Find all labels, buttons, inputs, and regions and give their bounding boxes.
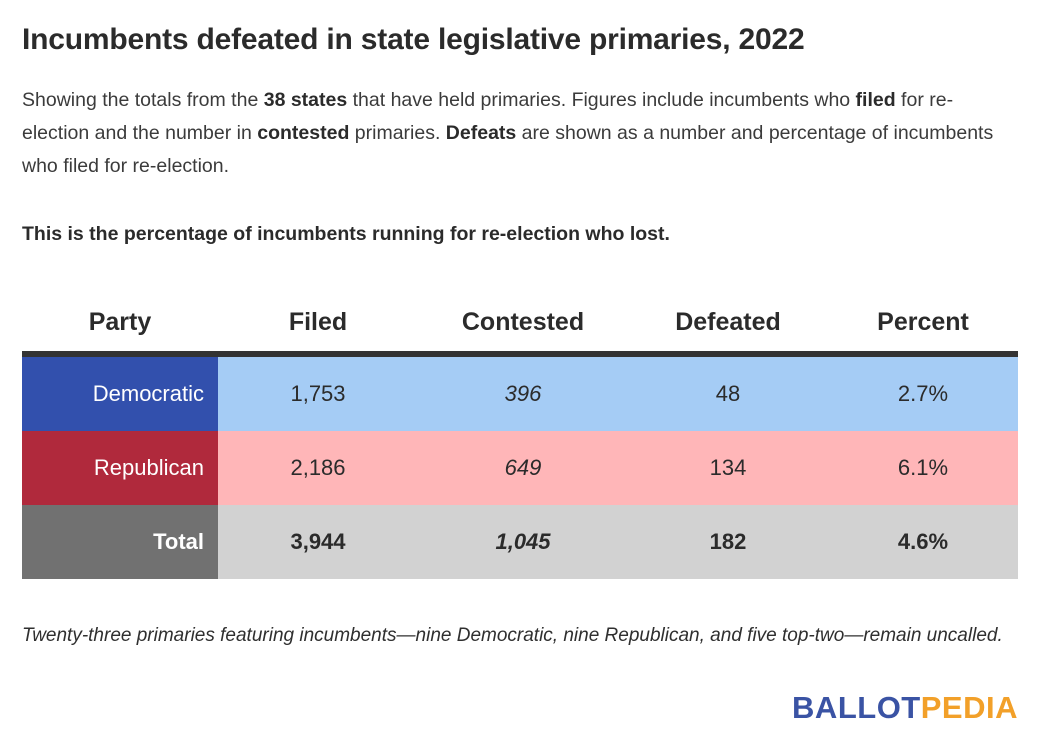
subtitle-description: Showing the totals from the 38 states th… <box>22 84 1000 183</box>
cell-percent-total: 4.6% <box>828 505 1018 579</box>
ballotpedia-logo: BALLOTPEDIA <box>792 690 1018 726</box>
footnote-text: Twenty-three primaries featuring incumbe… <box>22 622 1020 650</box>
cell-filed-total: 3,944 <box>218 505 418 579</box>
subtitle-bold-states: 38 states <box>264 89 347 111</box>
row-party-label-republican: Republican <box>22 431 218 505</box>
table-row: Total 3,944 1,045 182 4.6% <box>22 505 1018 579</box>
cell-contested-total: 1,045 <box>418 505 628 579</box>
cell-defeated-democratic: 48 <box>628 357 828 431</box>
cell-percent-republican: 6.1% <box>828 431 1018 505</box>
column-header-percent: Percent <box>828 300 1018 351</box>
subtitle-segment-1: Showing the totals from the <box>22 89 264 111</box>
subtitle-bold-defeats: Defeats <box>446 122 516 144</box>
row-party-label-democratic: Democratic <box>22 357 218 431</box>
column-header-filed: Filed <box>218 300 418 351</box>
column-header-party: Party <box>22 300 218 351</box>
infographic-page: Incumbents defeated in state legislative… <box>0 0 1040 752</box>
row-party-label-total: Total <box>22 505 218 579</box>
logo-text-pedia: PEDIA <box>921 690 1018 725</box>
cell-filed-democratic: 1,753 <box>218 357 418 431</box>
page-title: Incumbents defeated in state legislative… <box>22 22 1012 58</box>
subtitle-bold-filed: filed <box>856 89 896 111</box>
table-row: Republican 2,186 649 134 6.1% <box>22 431 1018 505</box>
cell-percent-democratic: 2.7% <box>828 357 1018 431</box>
subtitle-segment-2: that have held primaries. Figures includ… <box>347 89 855 111</box>
table-header-row: Party Filed Contested Defeated Percent <box>22 300 1018 351</box>
table-row: Democratic 1,753 396 48 2.7% <box>22 357 1018 431</box>
cell-defeated-republican: 134 <box>628 431 828 505</box>
logo-text-ballot: BALLOT <box>792 690 921 725</box>
subtitle-segment-4: primaries. <box>349 122 445 144</box>
column-header-defeated: Defeated <box>628 300 828 351</box>
cell-contested-democratic: 396 <box>418 357 628 431</box>
cell-filed-republican: 2,186 <box>218 431 418 505</box>
results-table: Party Filed Contested Defeated Percent D… <box>22 300 1018 579</box>
cell-defeated-total: 182 <box>628 505 828 579</box>
column-header-contested: Contested <box>418 300 628 351</box>
cell-contested-republican: 649 <box>418 431 628 505</box>
emphasis-note: This is the percentage of incumbents run… <box>22 220 1002 248</box>
subtitle-bold-contested: contested <box>257 122 349 144</box>
